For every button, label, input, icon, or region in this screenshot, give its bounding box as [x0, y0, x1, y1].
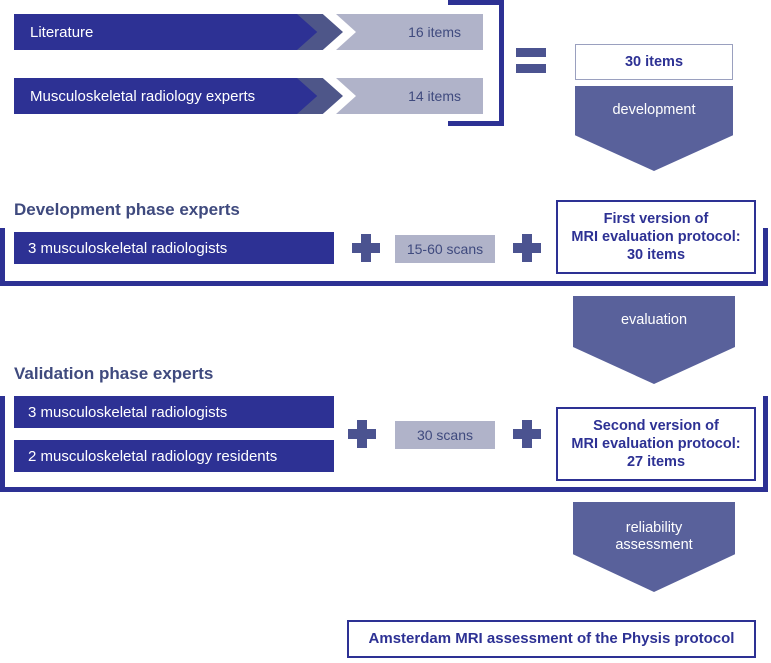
banner-reliability-line-0: reliability	[615, 520, 692, 537]
development-scans-box: 15-60 scans	[395, 235, 495, 263]
development-expert-label-0: 3 musculoskeletal radiologists	[28, 240, 227, 257]
validation-scans-label: 30 scans	[417, 427, 473, 443]
banner-reliability-line-1: assessment	[615, 537, 692, 554]
banner-development-label: development	[612, 102, 695, 119]
validation-output-line-2: 27 items	[627, 453, 685, 471]
validation-output-box: Second version of MRI evaluation protoco…	[556, 407, 756, 481]
validation-output-line-0: Second version of	[593, 417, 719, 435]
final-output-box: Amsterdam MRI assessment of the Physis p…	[347, 620, 756, 658]
heading-validation-phase: Validation phase experts	[14, 364, 213, 384]
development-output-line-0: First version of	[604, 210, 709, 228]
flowchart-canvas: Literature 16 items Musculoskeletal radi…	[0, 0, 771, 663]
validation-expert-label-0: 3 musculoskeletal radiologists	[28, 404, 227, 421]
total-items-label: 30 items	[625, 53, 683, 71]
final-output-label: Amsterdam MRI assessment of the Physis p…	[369, 630, 735, 649]
development-output-box: First version of MRI evaluation protocol…	[556, 200, 756, 274]
heading-development-phase: Development phase experts	[14, 200, 240, 220]
validation-expert-bar-0: 3 musculoskeletal radiologists	[14, 396, 334, 428]
banner-evaluation: evaluation	[573, 296, 735, 384]
validation-expert-label-1: 2 musculoskeletal radiology residents	[28, 448, 277, 465]
source-label-experts: Musculoskeletal radiology experts	[30, 88, 255, 105]
bracket-sources	[448, 0, 506, 126]
plus-icon-development-1	[352, 234, 380, 262]
validation-scans-box: 30 scans	[395, 421, 495, 449]
development-expert-bar-0: 3 musculoskeletal radiologists	[14, 232, 334, 264]
plus-icon-development-2	[513, 234, 541, 262]
plus-icon-validation-1	[348, 420, 376, 448]
source-label-literature: Literature	[30, 24, 93, 41]
development-scans-label: 15-60 scans	[407, 241, 483, 257]
banner-evaluation-label: evaluation	[621, 312, 687, 329]
source-bar-literature: Literature	[14, 14, 334, 50]
plus-icon-validation-2	[513, 420, 541, 448]
equals-icon	[516, 48, 546, 73]
validation-output-line-1: MRI evaluation protocol:	[571, 435, 740, 453]
development-output-line-1: MRI evaluation protocol:	[571, 228, 740, 246]
banner-development: development	[575, 86, 733, 171]
banner-reliability-assessment: reliability assessment	[573, 502, 735, 592]
validation-expert-bar-1: 2 musculoskeletal radiology residents	[14, 440, 334, 472]
total-items-box: 30 items	[575, 44, 733, 80]
source-bar-experts: Musculoskeletal radiology experts	[14, 78, 334, 114]
development-output-line-2: 30 items	[627, 246, 685, 264]
